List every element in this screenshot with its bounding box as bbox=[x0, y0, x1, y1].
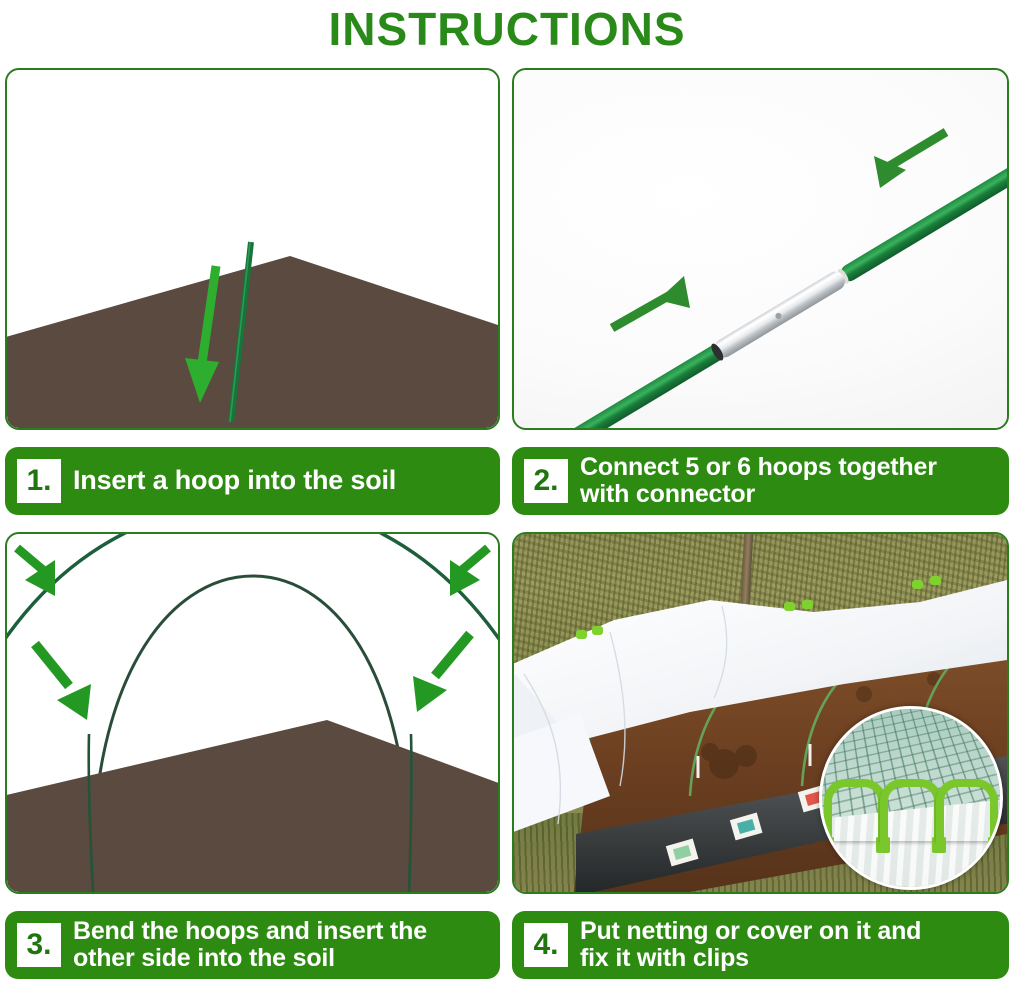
step-2-caption: 2. Connect 5 or 6 hoops together with co… bbox=[512, 447, 1009, 515]
panel-4-frame bbox=[512, 532, 1009, 894]
clip-detail-inset bbox=[819, 706, 1003, 890]
step-1-caption: 1. Insert a hoop into the soil bbox=[5, 447, 500, 515]
step-1-text: Insert a hoop into the soil bbox=[73, 466, 396, 495]
step-1-image-panel bbox=[5, 68, 500, 430]
silver-connector-tube bbox=[709, 268, 848, 362]
step-2-image-panel bbox=[512, 68, 1009, 430]
panel-1-frame bbox=[5, 68, 500, 430]
green-clip-1 bbox=[824, 779, 886, 841]
garden-bed-photo bbox=[514, 534, 1007, 892]
panel-2-frame bbox=[512, 68, 1009, 430]
step-4-image-panel bbox=[512, 532, 1009, 894]
green-clip-2 bbox=[880, 779, 942, 841]
green-clip-3 bbox=[936, 779, 998, 841]
step-4-number: 4. bbox=[524, 923, 568, 967]
green-rod-right bbox=[836, 151, 1007, 285]
rod-into-soil-illustration bbox=[7, 70, 498, 428]
page-title: INSTRUCTIONS bbox=[0, 0, 1014, 58]
step-4-text: Put netting or cover on it and fix it wi… bbox=[580, 918, 921, 972]
step-3-text: Bend the hoops and insert the other side… bbox=[73, 918, 427, 972]
bent-hoops-illustration bbox=[7, 534, 498, 892]
step-1-number: 1. bbox=[17, 459, 61, 503]
panel-3-frame bbox=[5, 532, 500, 894]
step-3-number: 3. bbox=[17, 923, 61, 967]
photo-background bbox=[514, 534, 1007, 892]
step-3-image-panel bbox=[5, 532, 500, 894]
connector-photo bbox=[514, 70, 1007, 428]
arrow-up-right bbox=[612, 276, 690, 328]
arrow-down-left bbox=[874, 132, 946, 188]
green-rod-left bbox=[547, 342, 727, 428]
step-2-text: Connect 5 or 6 hoops together with conne… bbox=[580, 454, 937, 508]
step-4-caption: 4. Put netting or cover on it and fix it… bbox=[512, 911, 1009, 979]
step-2-number: 2. bbox=[524, 459, 568, 503]
step-3-caption: 3. Bend the hoops and insert the other s… bbox=[5, 911, 500, 979]
